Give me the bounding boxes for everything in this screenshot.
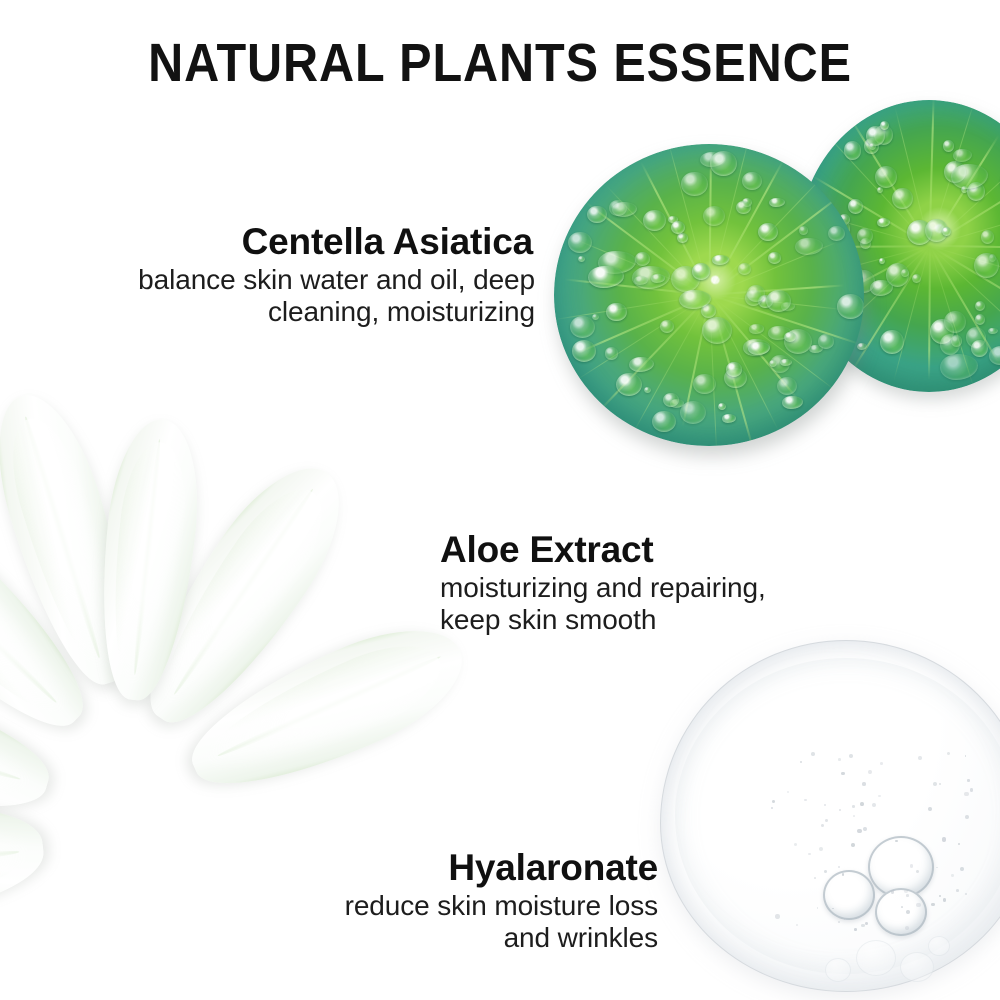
micro-bubble [942, 837, 946, 841]
micro-bubble [895, 840, 897, 842]
micro-bubble [814, 877, 816, 879]
ingredient-name-hyaluronate: Hyalaronate [280, 848, 658, 888]
micro-bubble [849, 754, 853, 758]
ingredient-name-aloe: Aloe Extract [440, 530, 880, 570]
micro-bubble [906, 894, 909, 897]
micro-bubble [947, 752, 950, 755]
gel-droplet-illustration [660, 640, 1000, 1000]
description-line-2: keep skin smooth [440, 604, 880, 636]
page-title: NATURAL PLANTS ESSENCE [50, 36, 950, 90]
micro-bubble [854, 928, 857, 931]
micro-bubble [970, 788, 973, 791]
defocused-bubble [928, 936, 950, 956]
micro-bubble [857, 829, 862, 834]
ingredient-description-hyaluronate: reduce skin moisture loss and wrinkles [280, 890, 658, 955]
description-line-2: and wrinkles [280, 922, 658, 954]
micro-bubble [839, 809, 841, 811]
micro-bubble [775, 914, 780, 919]
micro-bubble [936, 867, 938, 869]
micro-bubble [862, 782, 866, 786]
water-droplets [554, 144, 864, 446]
micro-bubble [964, 792, 968, 796]
ingredient-block-hyaluronate: Hyalaronate reduce skin moisture loss an… [280, 848, 658, 955]
micro-bubble [939, 783, 941, 785]
micro-bubble [821, 824, 824, 827]
bubble-left [823, 870, 875, 920]
micro-bubble [838, 758, 841, 761]
ingredient-block-centella: Centella Asiatica balance skin water and… [30, 222, 535, 329]
micro-bubble [825, 819, 828, 822]
micro-bubble [800, 761, 802, 763]
poster-canvas: NATURAL PLANTS ESSENCE Centella Asiatica… [0, 0, 1000, 1000]
micro-bubble [939, 895, 941, 897]
micro-bubble [928, 807, 932, 811]
bubble-bottom [875, 888, 927, 936]
ingredient-description-centella: balance skin water and oil, deep cleanin… [30, 264, 535, 329]
ingredient-block-aloe: Aloe Extract moisturizing and repairing,… [440, 530, 880, 637]
description-line-1: balance skin water and oil, deep [30, 264, 535, 296]
micro-bubble [951, 874, 953, 876]
micro-bubble [852, 805, 855, 808]
description-line-1: reduce skin moisture loss [280, 890, 658, 922]
gel-blob [660, 640, 1000, 992]
micro-bubble [965, 815, 969, 819]
micro-bubble [916, 903, 920, 907]
centella-leaves-illustration [548, 96, 1000, 486]
micro-bubble [943, 898, 946, 901]
micro-bubble [933, 782, 937, 786]
micro-bubble [906, 910, 910, 914]
ingredient-name-centella: Centella Asiatica [30, 222, 535, 262]
micro-bubble [860, 802, 864, 806]
micro-bubble [796, 924, 798, 926]
micro-bubble [918, 756, 922, 760]
micro-bubble [904, 889, 908, 893]
description-line-1: moisturizing and repairing, [440, 572, 880, 604]
aloe-slices-illustration [0, 392, 430, 812]
defocused-bubble [900, 952, 934, 982]
micro-bubble [853, 815, 855, 817]
defocused-bubble [825, 958, 851, 982]
description-line-2: cleaning, moisturizing [30, 296, 535, 328]
defocused-bubble [856, 940, 896, 976]
micro-bubble [910, 864, 914, 868]
aloe-slice [0, 791, 49, 930]
micro-bubble [956, 889, 959, 892]
micro-bubble [863, 827, 867, 831]
micro-bubble [967, 779, 969, 781]
pennywort-leaf-front [554, 144, 864, 446]
micro-bubble [804, 799, 806, 801]
micro-bubble [838, 921, 840, 923]
ingredient-description-aloe: moisturizing and repairing, keep skin sm… [440, 572, 880, 637]
